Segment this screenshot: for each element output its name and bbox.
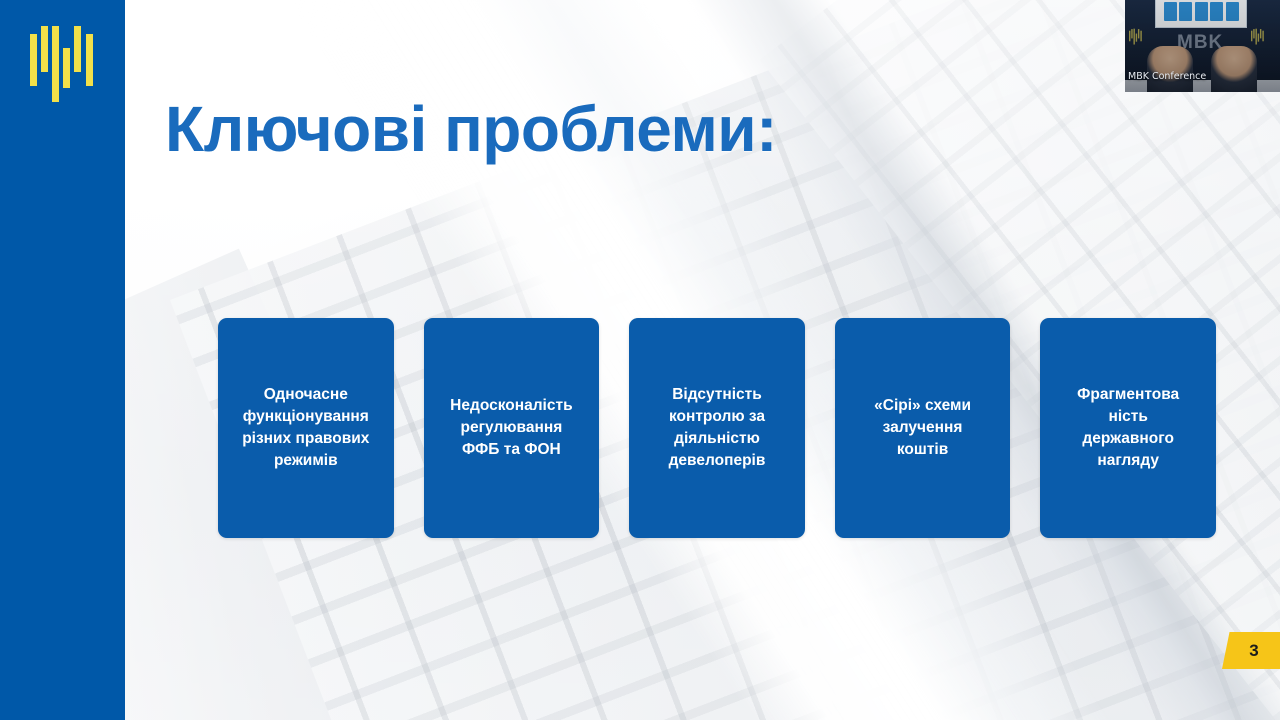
page-number-badge: 3	[1222, 632, 1280, 669]
ukraine-trident-icon	[30, 26, 94, 104]
page-number-value: 3	[1243, 641, 1258, 661]
problem-card[interactable]: Одночасне функціонування різних правових…	[218, 318, 394, 538]
problem-card-row: Одночасне функціонування різних правових…	[218, 318, 1216, 538]
problem-card-label: Відсутність контролю за діяльністю девел…	[669, 384, 766, 472]
problem-card-label: Фрагментова ність державного нагляду	[1077, 384, 1179, 472]
problem-card[interactable]: Недосконалість регулювання ФФБ та ФОН	[424, 318, 600, 538]
problem-card[interactable]: Відсутність контролю за діяльністю девел…	[629, 318, 805, 538]
video-overlay[interactable]: MBK MBK Conference	[1125, 0, 1280, 92]
problem-card[interactable]: «Сірі» схеми залучення коштів	[835, 318, 1011, 538]
problem-card-label: Недосконалість регулювання ФФБ та ФОН	[450, 395, 572, 461]
page-title: Ключові проблеми:	[165, 96, 777, 163]
video-overlay-label: MBK Conference	[1128, 71, 1206, 82]
problem-card[interactable]: Фрагментова ність державного нагляду	[1040, 318, 1216, 538]
problem-card-label: Одночасне функціонування різних правових…	[242, 384, 369, 472]
left-sidebar	[0, 0, 125, 720]
presentation-slide: Ключові проблеми: Одночасне функціонуван…	[0, 0, 1280, 720]
problem-card-label: «Сірі» схеми залучення коштів	[874, 395, 971, 461]
